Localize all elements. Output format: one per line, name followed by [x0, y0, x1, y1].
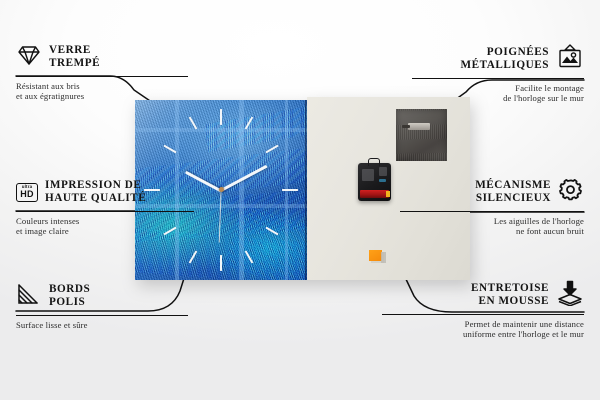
foam-spacer-icon — [556, 280, 584, 311]
feature-title-line1: POIGNÉES — [460, 46, 549, 59]
feature-desc-line1: Couleurs intenses — [16, 216, 194, 227]
feature-title-line1: MÉCANISME — [475, 179, 551, 192]
feature-desc-line1: Surface lisse et sûre — [16, 320, 188, 331]
mechanism-body-detail — [362, 169, 374, 181]
foam-spacer-shadow — [381, 252, 386, 263]
feature-title-line1: ENTRETOISE — [471, 282, 549, 295]
feature-rule — [382, 314, 584, 315]
feature-title-line1: BORDS — [49, 283, 90, 296]
feature-title-line2: POLIS — [49, 296, 90, 309]
feature-title-line2: SILENCIEUX — [475, 192, 551, 205]
polished-edge-icon — [16, 283, 42, 310]
infographic-canvas: VERRE TREMPÉ Résistant aux bris et aux é… — [0, 0, 600, 400]
feature-title-line2: MÉTALLIQUES — [460, 59, 549, 72]
clock-tick — [282, 189, 298, 191]
clock-tick — [220, 255, 222, 271]
feature-desc-line1: Facilite le montage — [412, 83, 584, 94]
feature-rule — [400, 211, 584, 212]
picture-frame-icon — [556, 44, 584, 75]
feature-title-line2: TREMPÉ — [49, 57, 100, 70]
feature-desc-line2: et aux égratignures — [16, 91, 188, 102]
ultra-hd-icon-main-text: HD — [20, 190, 33, 199]
clock-tick — [220, 109, 222, 125]
feature-desc-line1: Les aiguilles de l'horloge — [400, 216, 584, 227]
battery — [360, 190, 389, 198]
mechanism-label — [379, 179, 386, 182]
feature-bords-polis: BORDS POLIS Surface lisse et sûre — [16, 279, 188, 330]
gear-icon — [558, 178, 584, 207]
diamond-icon — [16, 44, 42, 71]
metal-hanging-plate — [396, 109, 447, 161]
feature-desc-line2: ne font aucun bruit — [400, 226, 584, 237]
feature-desc-line2: uniforme entre l'horloge et le mur — [382, 329, 584, 340]
metal-hook — [408, 123, 430, 130]
feature-desc-line1: Permet de maintenir une distance — [382, 319, 584, 330]
clock-mechanism — [358, 163, 391, 201]
mechanism-hanger-loop — [368, 158, 380, 166]
feature-poignees-metalliques: POIGNÉES MÉTALLIQUES Facilite le montage… — [412, 42, 584, 104]
feature-rule — [412, 78, 584, 79]
feature-desc-line1: Résistant aux bris — [16, 81, 188, 92]
mechanism-body-detail — [379, 167, 387, 176]
metal-hook-slot — [402, 125, 410, 128]
feature-desc-line2: de l'horloge sur le mur — [412, 93, 584, 104]
feature-verre-trempe: VERRE TREMPÉ Résistant aux bris et aux é… — [16, 40, 188, 102]
feature-rule — [16, 315, 188, 316]
feature-mecanisme-silencieux: MÉCANISME SILENCIEUX Les aiguilles de l'… — [400, 175, 584, 237]
feature-title-line2: EN MOUSSE — [471, 295, 549, 308]
feature-impression-haute-qualite: ultra HD IMPRESSION DE HAUTE QUALITÉ Cou… — [16, 175, 194, 237]
feature-title-line2: HAUTE QUALITÉ — [45, 192, 146, 205]
feature-rule — [16, 211, 194, 212]
ultra-hd-icon: ultra HD — [16, 183, 38, 202]
feature-rule — [16, 76, 188, 77]
feature-desc-line2: et image claire — [16, 226, 194, 237]
panel-edge-shadow — [305, 100, 307, 280]
feature-title-line1: IMPRESSION DE — [45, 179, 146, 192]
feature-entretoise-en-mousse: ENTRETOISE EN MOUSSE Permet de maintenir… — [382, 278, 584, 340]
clock-hand-hub — [219, 187, 224, 192]
battery-positive-tip — [386, 191, 390, 197]
feature-title-line1: VERRE — [49, 44, 100, 57]
